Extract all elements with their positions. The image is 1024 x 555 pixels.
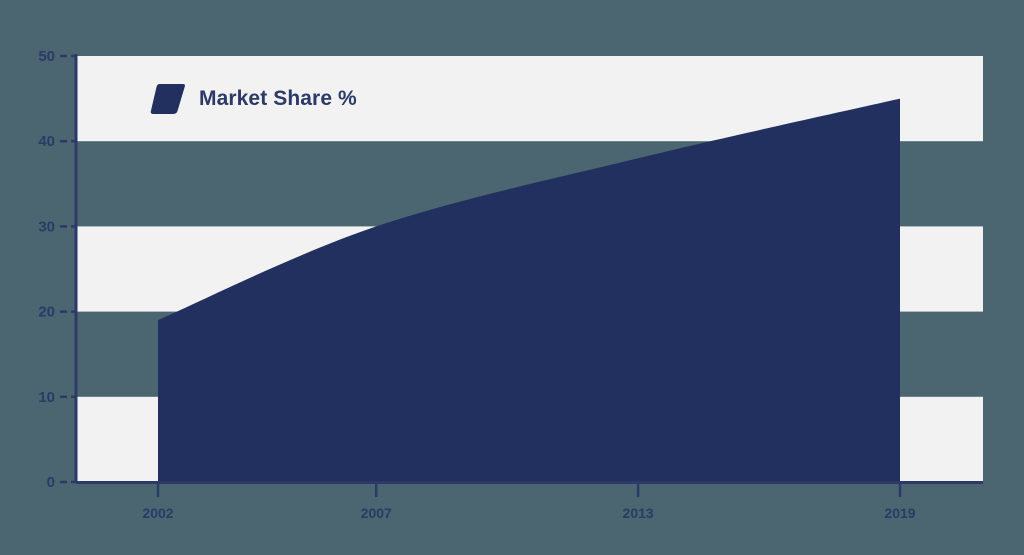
y-tick-label: 0 [47,474,55,491]
x-axis-ticks: 2002200720132019 [142,484,915,521]
x-tick-label: 2002 [142,505,173,521]
y-tick-label: 50 [38,48,55,65]
chart-legend: Market Share % [150,82,357,116]
x-tick-label: 2007 [361,505,392,521]
series-market-share [158,99,900,482]
area-fill [158,99,900,482]
area-chart: 01020304050 2002200720132019 Market Shar… [0,0,1024,555]
y-axis-ticks: 01020304050 [38,48,76,491]
legend-swatch-icon [150,82,186,116]
y-tick-label: 20 [38,304,55,321]
y-tick-label: 40 [38,133,55,150]
x-tick-label: 2013 [623,505,654,521]
y-tick-label: 30 [38,218,55,235]
legend-label-market-share: Market Share % [199,87,357,111]
x-tick-label: 2019 [884,505,915,521]
y-tick-label: 10 [38,389,55,406]
